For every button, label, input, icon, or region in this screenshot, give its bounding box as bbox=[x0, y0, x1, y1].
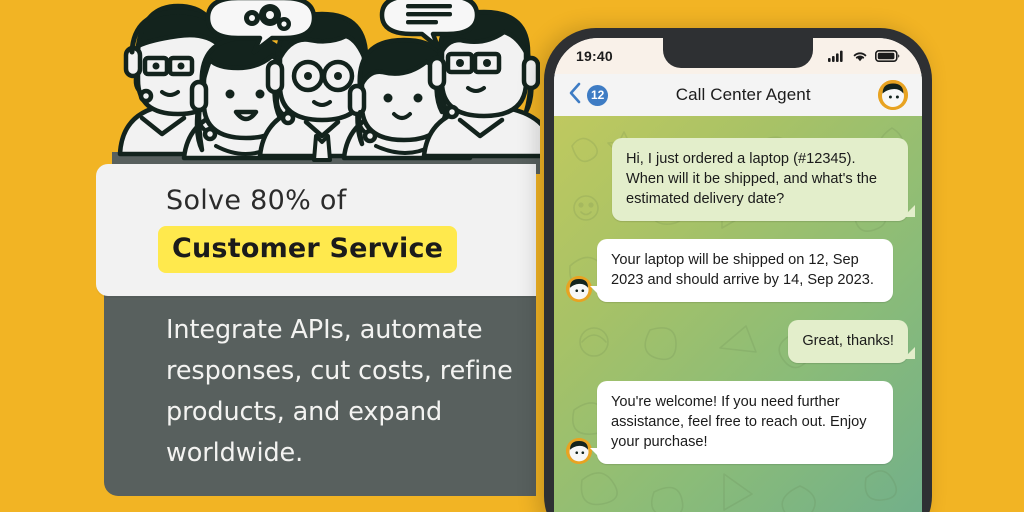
phone-mockup: 19:40 bbox=[544, 28, 932, 512]
contact-avatar[interactable] bbox=[878, 80, 908, 110]
promo-headline: Solve 80% of bbox=[166, 184, 347, 218]
chat-thread[interactable]: Hi, I just ordered a laptop (#12345). Wh… bbox=[554, 116, 922, 512]
message-bubble-customer[interactable]: Great, thanks! bbox=[788, 320, 908, 363]
chat-title: Call Center Agent bbox=[608, 85, 878, 105]
unread-badge[interactable]: 12 bbox=[587, 85, 608, 106]
message-bubble-agent[interactable]: Your laptop will be shipped on 12, Sep 2… bbox=[597, 239, 893, 302]
back-button[interactable]: 12 bbox=[568, 82, 608, 108]
message-bubble-agent[interactable]: You're welcome! If you need further assi… bbox=[597, 381, 893, 464]
message-row: Your laptop will be shipped on 12, Sep 2… bbox=[566, 239, 908, 302]
status-time: 19:40 bbox=[576, 48, 613, 64]
message-row: Great, thanks! bbox=[566, 320, 908, 363]
message-row: Hi, I just ordered a laptop (#12345). Wh… bbox=[566, 138, 908, 221]
call-center-agents-illustration bbox=[112, 0, 540, 174]
agent-avatar bbox=[566, 438, 592, 464]
message-row: You're welcome! If you need further assi… bbox=[566, 381, 908, 464]
message-bubble-customer[interactable]: Hi, I just ordered a laptop (#12345). Wh… bbox=[612, 138, 908, 221]
agent-avatar bbox=[566, 276, 592, 302]
chevron-left-icon[interactable] bbox=[568, 82, 581, 108]
promo-headline-card: Solve 80% of Customer Service bbox=[96, 164, 536, 296]
cellular-signal-icon bbox=[828, 47, 845, 66]
chat-header: 12 Call Center Agent bbox=[554, 74, 922, 116]
message-list: Hi, I just ordered a laptop (#12345). Wh… bbox=[554, 116, 922, 512]
promo-banner: Integrate APIs, automate responses, cut … bbox=[0, 0, 1024, 512]
wifi-icon bbox=[852, 47, 868, 66]
phone-screen: 19:40 bbox=[554, 38, 922, 512]
battery-icon bbox=[875, 47, 900, 66]
phone-notch bbox=[663, 38, 813, 68]
promo-body-text: Integrate APIs, automate responses, cut … bbox=[166, 310, 536, 474]
promo-highlight-text: Customer Service bbox=[158, 226, 457, 273]
status-icons bbox=[828, 47, 900, 66]
